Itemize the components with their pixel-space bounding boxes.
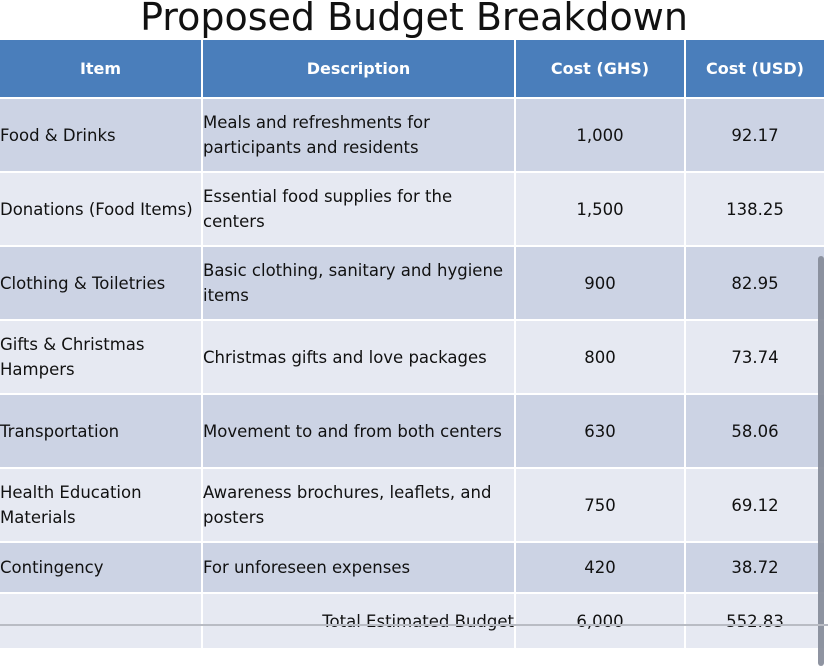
cell-cost-usd: 73.74: [685, 320, 824, 394]
table-row: Contingency For unforeseen expenses 420 …: [0, 542, 824, 593]
table-row: Health Education Materials Awareness bro…: [0, 468, 824, 542]
cell-cost-ghs: 800: [515, 320, 685, 394]
cell-cost-usd: 69.12: [685, 468, 824, 542]
vertical-scrollbar[interactable]: [818, 40, 828, 626]
cell-item: Health Education Materials: [0, 468, 202, 542]
cell-item: Transportation: [0, 394, 202, 468]
cell-cost-ghs: 420: [515, 542, 685, 593]
cell-cost-ghs: 630: [515, 394, 685, 468]
table-row: Clothing & Toiletries Basic clothing, sa…: [0, 246, 824, 320]
cell-description: Essential food supplies for the centers: [202, 172, 515, 246]
scrollbar-thumb[interactable]: [818, 256, 824, 666]
table-row: Donations (Food Items) Essential food su…: [0, 172, 824, 246]
total-label: Total Estimated Budget: [202, 593, 515, 649]
title-band: Proposed Budget Breakdown: [0, 0, 828, 40]
cell-cost-usd: 92.17: [685, 98, 824, 172]
page-title: Proposed Budget Breakdown: [0, 0, 828, 39]
cell-description: Christmas gifts and love packages: [202, 320, 515, 394]
column-header-item[interactable]: Item: [0, 40, 202, 98]
column-header-cost-usd[interactable]: Cost (USD): [685, 40, 824, 98]
budget-table: Item Description Cost (GHS) Cost (USD) F…: [0, 40, 824, 650]
table-header-row: Item Description Cost (GHS) Cost (USD): [0, 40, 824, 98]
column-header-description[interactable]: Description: [202, 40, 515, 98]
total-cost-ghs: 6,000: [515, 593, 685, 649]
cell-cost-ghs: 1,000: [515, 98, 685, 172]
cell-description: Basic clothing, sanitary and hygiene ite…: [202, 246, 515, 320]
cell-item: Gifts & Christmas Hampers: [0, 320, 202, 394]
cell-cost-usd: 58.06: [685, 394, 824, 468]
cell-item: Food & Drinks: [0, 98, 202, 172]
table-row: Gifts & Christmas Hampers Christmas gift…: [0, 320, 824, 394]
column-header-cost-ghs[interactable]: Cost (GHS): [515, 40, 685, 98]
table-total-row: Total Estimated Budget 6,000 552.83: [0, 593, 824, 649]
cell-item: Donations (Food Items): [0, 172, 202, 246]
total-cell-item-empty: [0, 593, 202, 649]
cell-cost-usd: 38.72: [685, 542, 824, 593]
table-body: Food & Drinks Meals and refreshments for…: [0, 98, 824, 649]
cell-cost-ghs: 750: [515, 468, 685, 542]
cell-cost-ghs: 900: [515, 246, 685, 320]
cell-description: Movement to and from both centers: [202, 394, 515, 468]
total-cost-usd: 552.83: [685, 593, 824, 649]
budget-document-page: Proposed Budget Breakdown Item Descripti…: [0, 0, 828, 626]
table-header: Item Description Cost (GHS) Cost (USD): [0, 40, 824, 98]
cell-description: Meals and refreshments for participants …: [202, 98, 515, 172]
cell-item: Clothing & Toiletries: [0, 246, 202, 320]
cell-cost-ghs: 1,500: [515, 172, 685, 246]
table-row: Food & Drinks Meals and refreshments for…: [0, 98, 824, 172]
cell-description: For unforeseen expenses: [202, 542, 515, 593]
cell-description: Awareness brochures, leaflets, and poste…: [202, 468, 515, 542]
table-row: Transportation Movement to and from both…: [0, 394, 824, 468]
cell-item: Contingency: [0, 542, 202, 593]
cell-cost-usd: 138.25: [685, 172, 824, 246]
cell-cost-usd: 82.95: [685, 246, 824, 320]
